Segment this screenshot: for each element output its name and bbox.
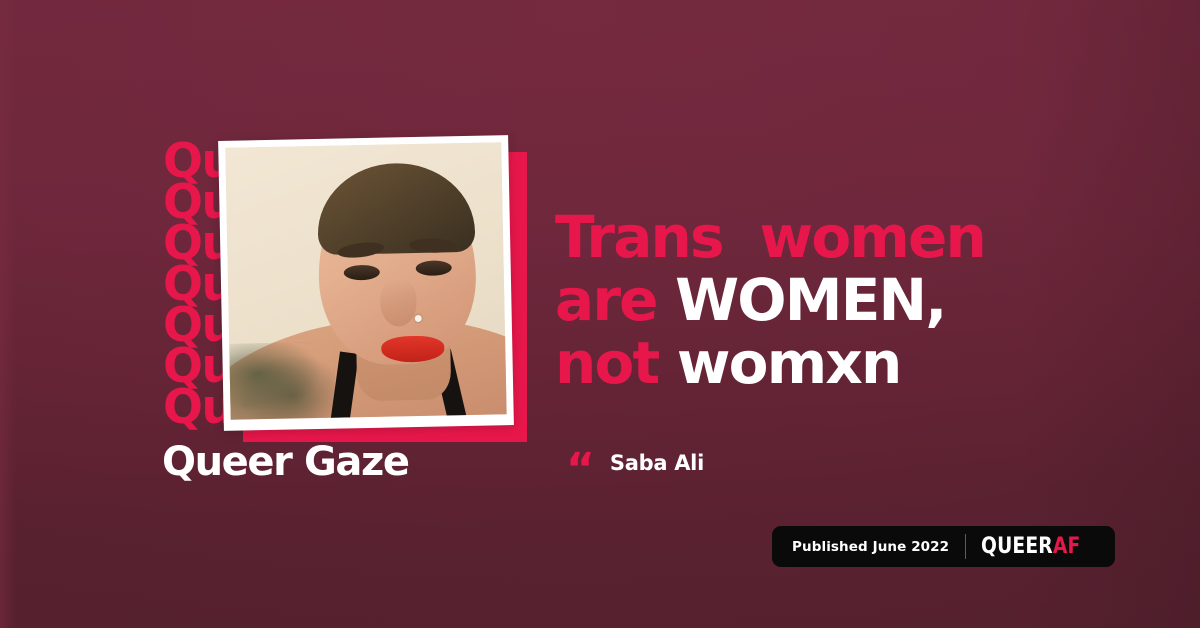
published-badge: Published June 2022 QUEERAF (772, 526, 1115, 567)
headline-line-1: Trans women (555, 206, 1175, 269)
published-date: Published June 2022 (792, 539, 949, 555)
logo-text-af: AF (1053, 534, 1081, 559)
byline: “ Saba Ali (566, 451, 704, 475)
photo-nose (380, 280, 417, 327)
headline-word-WOMEN: WOMEN, (675, 266, 945, 334)
headline-line-3: not womxn (555, 332, 1175, 395)
author-name: Saba Ali (610, 451, 704, 475)
photo-tattoo (225, 341, 335, 419)
badge-divider (965, 534, 966, 559)
headline-word-not: not (555, 329, 658, 397)
logo-text-queer: QUEER (981, 534, 1053, 559)
headline-word-are: are (555, 266, 657, 334)
author-photo-frame (218, 135, 514, 431)
section-title: Queer Gaze (162, 440, 409, 484)
headline-word-trans: Trans (555, 203, 723, 271)
quote-mark-icon: “ (566, 460, 595, 480)
headline: Trans women are WOMEN, not womxn (555, 206, 1175, 395)
headline-word-womxn: womxn (677, 329, 901, 397)
queeraf-logo: QUEERAF (981, 536, 1080, 558)
headline-line-2: are WOMEN, (555, 269, 1175, 332)
headline-word-women: women (760, 203, 986, 271)
social-card: Qu Qu Qu Qu Qu Qu Qu Queer Gaze (0, 0, 1200, 628)
author-photo (225, 142, 506, 419)
